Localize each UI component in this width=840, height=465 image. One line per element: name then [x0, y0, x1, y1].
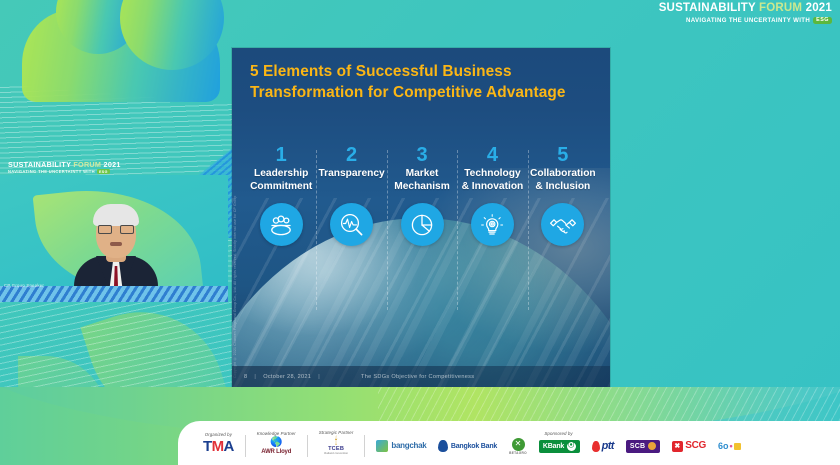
sponsor-caption: Strategic Partner [319, 430, 354, 435]
screen-share-stage: SUSTAINABILITY FORUM 2021 NAVIGATING THE… [0, 0, 840, 465]
element-label: MarketMechanism [389, 168, 455, 194]
logo-mark-icon: • [730, 442, 733, 451]
kbank-mark-icon: ⦿ [567, 442, 576, 451]
slide-footer: 8 | October 28, 2021 | The SDGs Objectiv… [232, 366, 610, 388]
sponsor-group-knowledge-partner: Knowledge Partner 🌎 AWR Lloyd [250, 431, 303, 455]
logo-text: ptt [602, 441, 614, 452]
flame-icon [592, 441, 600, 452]
lightbulb-gear-icon [471, 203, 514, 246]
sponsor-group-strategic-partner: Strategic Partner 🕯 TCEB thailand conven… [312, 430, 361, 455]
sponsor-caption: Knowledge Partner [257, 431, 296, 436]
tceb-logo[interactable]: 🕯 TCEB thailand convention [324, 437, 348, 455]
divider [245, 435, 246, 457]
logo-text: KBank [543, 443, 564, 450]
element-number: 3 [389, 144, 455, 166]
slide-title: 5 Elements of Successful Business Transf… [250, 62, 580, 103]
bangchak-mark-icon [376, 440, 388, 452]
magnifier-pulse-icon [330, 203, 373, 246]
logo-mark-icon [734, 443, 741, 450]
logo-text: BETAGRO [509, 452, 527, 455]
slide-copyright-text: Copyright © 2021 Charoen Pokphand Group … [233, 98, 243, 378]
ptt-logo[interactable]: ptt [592, 441, 614, 452]
element-column-4: 4 Technology& Innovation [457, 144, 527, 324]
brand-primary: SUSTAINABILITY [8, 160, 71, 169]
scg-logo[interactable]: ✖ SCG [672, 441, 706, 452]
tma-logo[interactable]: TMA [203, 439, 234, 454]
sponsor-group-organized-by: Organized by TMA [196, 432, 241, 454]
sponsor-strip: Organized by TMA Knowledge Partner 🌎 AWR… [178, 421, 840, 465]
elements-row: 1 LeadershipCommitment 2 Transparency [246, 144, 598, 324]
slide-page-number: 8 [244, 374, 247, 380]
shared-slide[interactable]: Copyright © 2021 Charoen Pokphand Group … [232, 48, 610, 388]
globe-icon: 🌎 [270, 438, 282, 448]
divider [307, 435, 308, 457]
glasses-icon [98, 225, 134, 234]
partner-misc-logo[interactable]: 6o • [718, 442, 741, 451]
element-number: 5 [530, 144, 596, 166]
background-fill [608, 0, 840, 392]
people-group-icon [260, 203, 303, 246]
element-label: Technology& Innovation [459, 168, 525, 194]
element-label: LeadershipCommitment [248, 168, 314, 194]
logo-text: bangchak [391, 442, 426, 450]
sponsor-caption: Sponsored by [544, 431, 572, 436]
logo-text: Bangkok Bank [451, 443, 497, 450]
brand-year: 2021 [104, 160, 121, 169]
element-label: Collaboration& Inclusion [530, 168, 596, 194]
slide-section-title: The SDGs Objective for Competitiveness [361, 374, 474, 380]
participant-name-label: CP Group Speaker [4, 283, 44, 288]
handshake-icon [541, 203, 584, 246]
scg-mark-icon: ✖ [672, 441, 683, 452]
slide-footer-date: October 28, 2021 [263, 374, 311, 380]
logo-text: SCB [630, 443, 645, 450]
sponsor-caption: Organized by [205, 432, 232, 437]
brand-year: 2021 [806, 2, 832, 14]
kbank-logo[interactable]: KBank ⦿ [539, 440, 580, 453]
bangchak-logo[interactable]: bangchak [376, 440, 426, 452]
water-drop-icon [438, 440, 448, 452]
logo-subtext: thailand convention [324, 453, 348, 456]
element-number: 4 [459, 144, 525, 166]
betagro-logo[interactable]: ✕ BETAGRO [509, 438, 527, 455]
bangkok-bank-logo[interactable]: Bangkok Bank [438, 440, 497, 452]
element-column-3: 3 MarketMechanism [387, 144, 457, 324]
scb-mark-icon [648, 442, 656, 450]
element-column-5: 5 Collaboration& Inclusion [528, 144, 598, 324]
brand-primary: SUSTAINABILITY [659, 2, 756, 14]
scb-logo[interactable]: SCB [626, 440, 660, 453]
sponsor-group-sponsored-by: Sponsored by bangchak Bangkok Bank ✕ BET… [369, 431, 747, 455]
logo-text: 6o [718, 442, 729, 451]
brand-tagline: NAVIGATING THE UNCERTAINTY WITH [686, 17, 810, 24]
video-participant-tile[interactable]: CP Group Speaker [0, 175, 228, 302]
awr-lloyd-logo[interactable]: 🌎 AWR Lloyd [261, 438, 291, 455]
brand-secondary: FORUM [73, 160, 101, 169]
brand-secondary: FORUM [759, 2, 802, 14]
pie-chart-icon [401, 203, 444, 246]
divider [364, 435, 365, 457]
element-label: Transparency [318, 168, 384, 194]
esg-badge: ESG [97, 169, 110, 174]
event-logo-band: SUSTAINABILITY FORUM 2021 NAVIGATING THE… [659, 2, 832, 24]
logo-text: AWR Lloyd [261, 449, 291, 455]
cloud-graphic [22, 10, 220, 102]
footer-separator: | [318, 374, 320, 380]
element-number: 1 [248, 144, 314, 166]
element-column-2: 2 Transparency [316, 144, 386, 324]
esg-badge: ESG [813, 17, 832, 24]
footer-separator: | [254, 374, 256, 380]
brand-tagline: NAVIGATING THE UNCERTAINTY WITH [8, 169, 95, 174]
logo-text: SCG [685, 441, 706, 451]
element-number: 2 [318, 144, 384, 166]
element-column-1: 1 LeadershipCommitment [246, 144, 316, 324]
betagro-mark-icon: ✕ [512, 438, 525, 451]
stripe-pattern [0, 286, 228, 302]
